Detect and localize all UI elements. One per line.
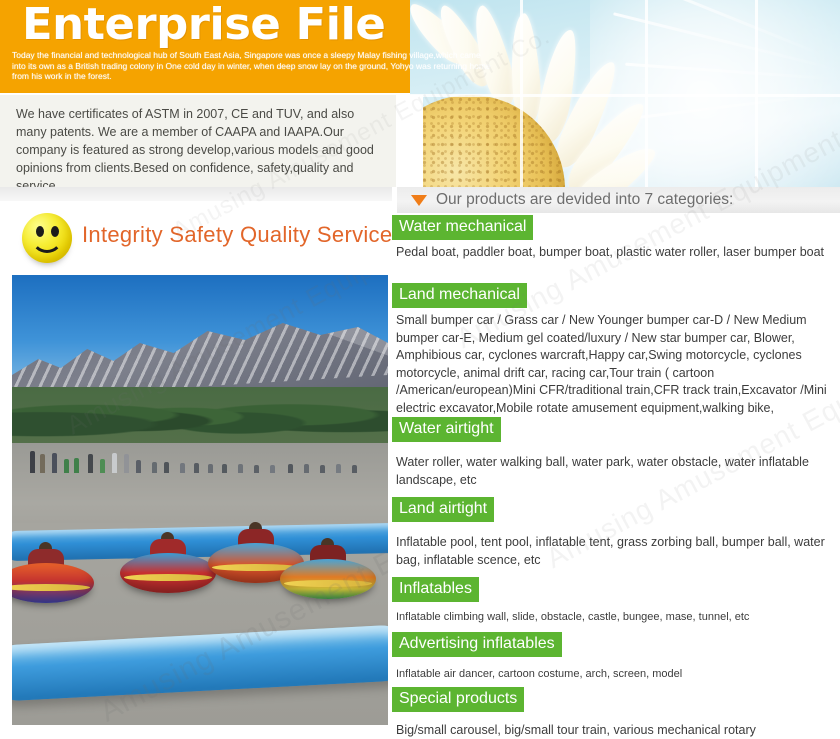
- top-banner: Enterprise File Today the financial and …: [0, 0, 840, 93]
- category-items: Small bumper car / Grass car / New Young…: [392, 312, 832, 417]
- category-items: Inflatable pool, tent pool, inflatable t…: [392, 534, 832, 569]
- products-panel: Our products are devided into 7 categori…: [392, 187, 840, 739]
- left-column-divider: [0, 187, 392, 201]
- certificates-block: We have certificates of ASTM in 2007, CE…: [0, 95, 396, 187]
- category-items: Big/small carousel, big/small tour train…: [392, 722, 832, 739]
- category-items: Pedal boat, paddler boat, bumper boat, p…: [392, 244, 832, 262]
- certificates-text: We have certificates of ASTM in 2007, CE…: [16, 105, 386, 195]
- photo-bumper-car: [280, 543, 376, 599]
- page-root: Enterprise File Today the financial and …: [0, 0, 840, 739]
- category-advertising-inflatables: Advertising inflatables Inflatable air d…: [392, 632, 840, 682]
- category-items: Water roller, water walking ball, water …: [392, 454, 832, 489]
- products-header-text: Our products are devided into 7 categori…: [436, 191, 733, 209]
- category-label[interactable]: Inflatables: [392, 577, 479, 602]
- category-inflatables: Inflatables Inflatable climbing wall, sl…: [392, 577, 840, 625]
- category-label[interactable]: Land mechanical: [392, 283, 527, 308]
- category-land-mechanical: Land mechanical Small bumper car / Grass…: [392, 283, 840, 417]
- products-header: Our products are devided into 7 categori…: [397, 187, 840, 213]
- banner-subtitle: Today the financial and technological hu…: [12, 50, 492, 82]
- slogan-text: Integrity Safety Quality Service: [82, 222, 392, 248]
- daisy-sky-collage-image: [410, 0, 840, 190]
- category-label[interactable]: Advertising inflatables: [392, 632, 562, 657]
- category-items: Inflatable climbing wall, slide, obstacl…: [392, 610, 832, 625]
- page-title: Enterprise File: [22, 2, 385, 48]
- banner-orange-block: Enterprise File Today the financial and …: [0, 0, 410, 93]
- product-photo: Amusing Amusement Equipment Co. Amusing …: [12, 275, 388, 725]
- category-land-airtight: Land airtight Inflatable pool, tent pool…: [392, 497, 840, 569]
- slogan-row: Integrity Safety Quality Service: [0, 209, 392, 267]
- photo-bumper-car: [12, 547, 94, 603]
- category-special-products: Special products Big/small carousel, big…: [392, 687, 840, 739]
- smiley-face-icon: [22, 213, 72, 263]
- category-label[interactable]: Water airtight: [392, 417, 501, 442]
- category-label[interactable]: Special products: [392, 687, 524, 712]
- left-column: Integrity Safety Quality Service: [0, 187, 392, 739]
- category-items: Inflatable air dancer, cartoon costume, …: [392, 667, 832, 682]
- collage-grid-lines: [410, 0, 840, 190]
- triangle-down-icon: [411, 195, 427, 206]
- category-label[interactable]: Water mechanical: [392, 215, 533, 240]
- category-water-mechanical: Water mechanical Pedal boat, paddler boa…: [392, 215, 840, 262]
- photo-crowd: [12, 427, 388, 473]
- category-label[interactable]: Land airtight: [392, 497, 494, 522]
- photo-bumper-car: [120, 537, 216, 593]
- category-water-airtight: Water airtight Water roller, water walki…: [392, 417, 840, 489]
- smiley-mouth: [31, 233, 63, 253]
